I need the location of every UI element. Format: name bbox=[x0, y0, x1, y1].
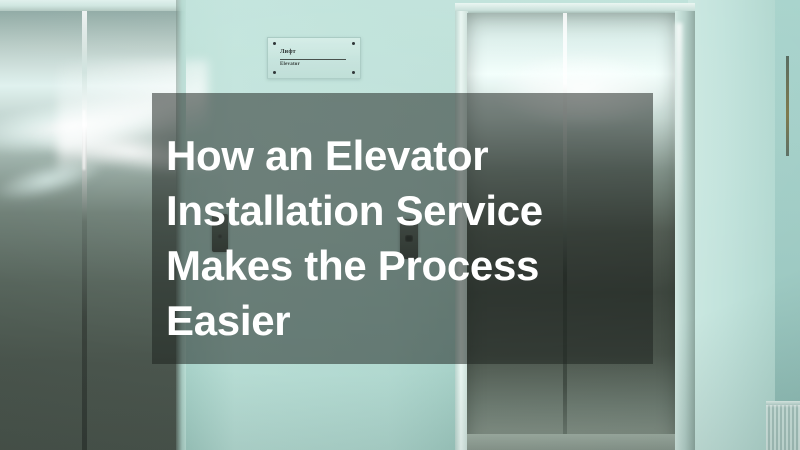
left-elevator-door-seam bbox=[82, 11, 87, 450]
wall-sign-divider bbox=[280, 59, 346, 60]
hero-banner: Лифт Elevator How an Elevator Installati… bbox=[0, 0, 800, 450]
wall-slab-right bbox=[688, 0, 778, 450]
screw-icon bbox=[352, 42, 355, 45]
radiator bbox=[766, 404, 800, 450]
wall-sign-text-english: Elevator bbox=[280, 62, 300, 67]
door-edge-fixture bbox=[786, 56, 789, 156]
radiator-cap bbox=[766, 401, 800, 405]
door-seam-highlight bbox=[83, 110, 85, 170]
screw-icon bbox=[273, 42, 276, 45]
light-reflection-glow bbox=[477, 43, 667, 138]
left-elevator-doors bbox=[0, 0, 186, 450]
page-title: How an Elevator Installation Service Mak… bbox=[166, 128, 646, 348]
wall-sign-plaque: Лифт Elevator bbox=[267, 37, 361, 79]
wall-sign-text-russian: Лифт bbox=[280, 49, 296, 55]
jamb-highlight bbox=[676, 23, 682, 223]
screw-icon bbox=[352, 71, 355, 74]
screw-icon bbox=[273, 71, 276, 74]
right-elevator-sill bbox=[467, 434, 676, 450]
